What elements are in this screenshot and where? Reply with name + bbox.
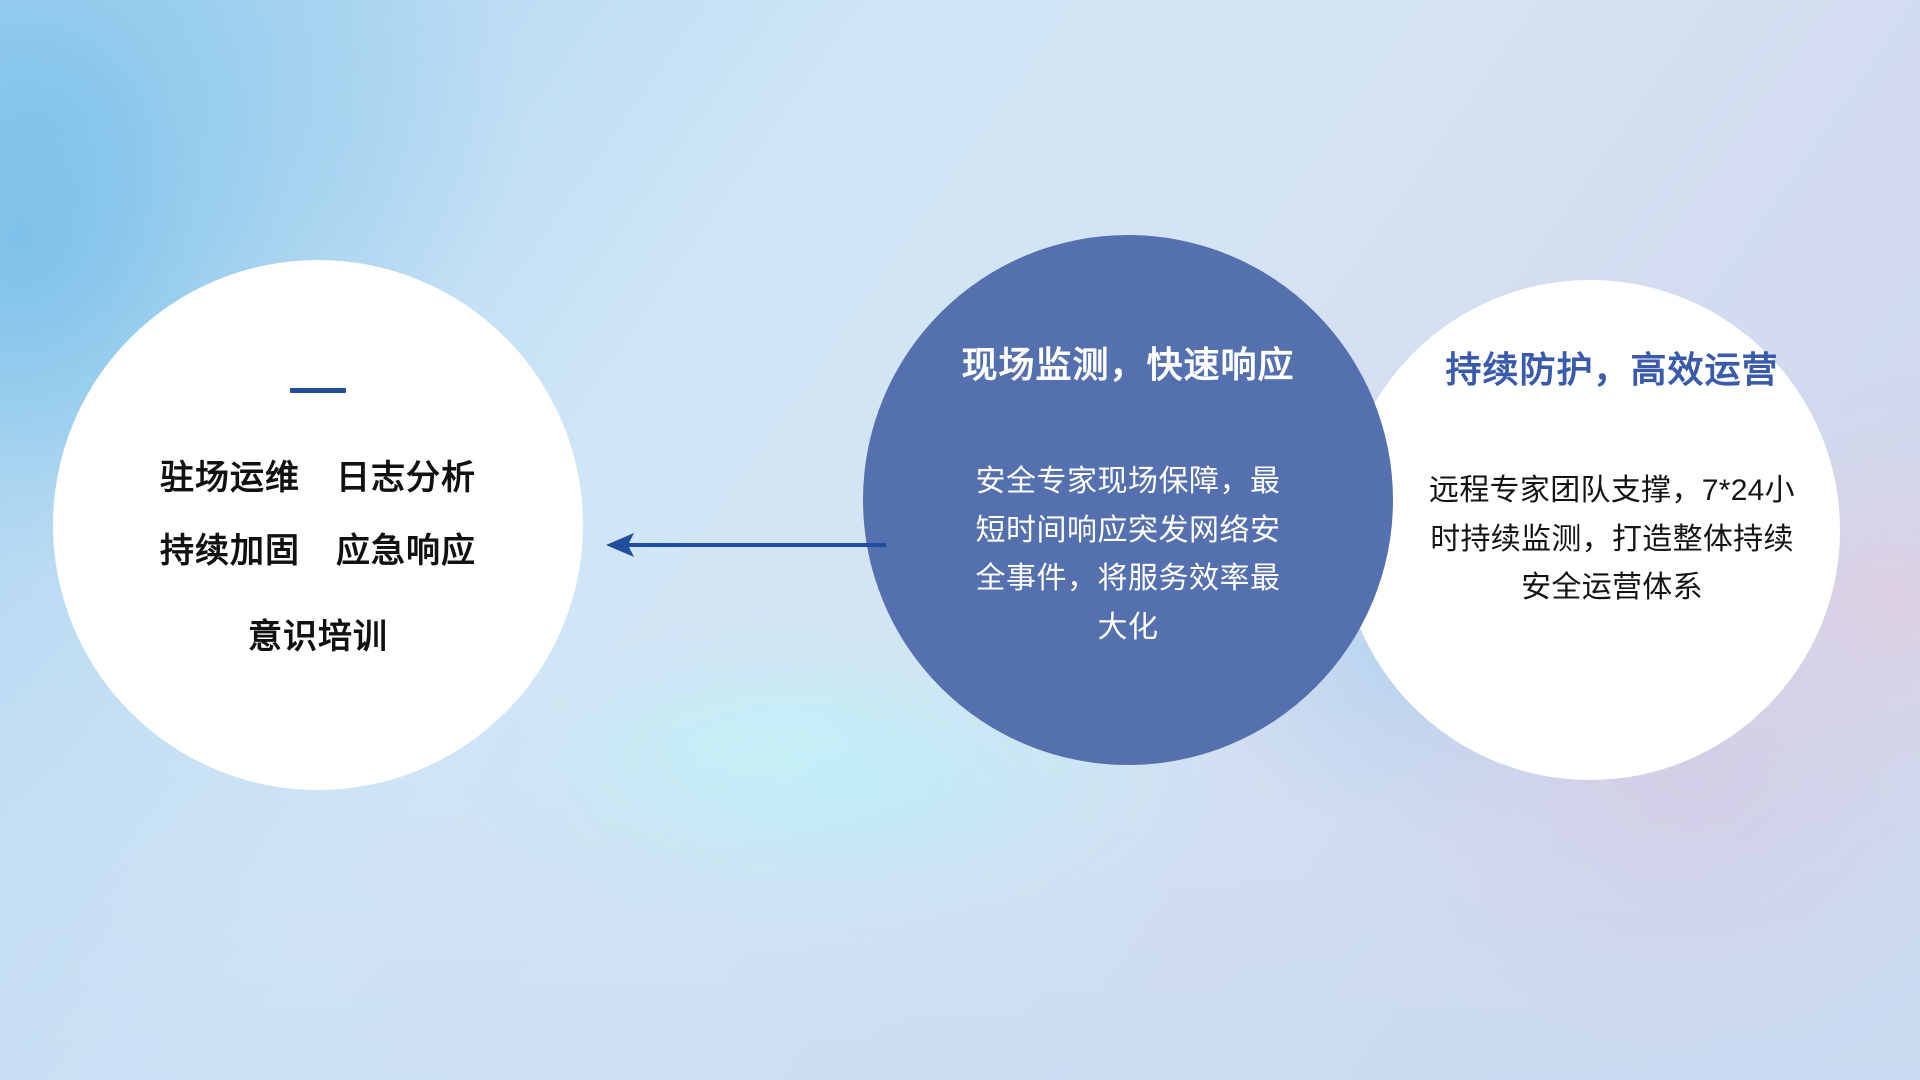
capability-tag[interactable]: 持续加固: [160, 530, 300, 573]
capability-tag[interactable]: 意识培训: [248, 616, 388, 659]
center-circle-content: 现场监测，快速响应 安全专家现场保障，最短时间响应突发网络安全事件，将服务效率最…: [863, 235, 1393, 765]
capability-row: 持续加固 应急响应: [160, 530, 476, 573]
capability-row: 意识培训: [248, 616, 388, 659]
left-circle-content: 驻场运维 日志分析 持续加固 应急响应 意识培训: [53, 260, 583, 790]
center-circle-title: 现场监测，快速响应: [961, 343, 1294, 386]
left-circle-divider: [290, 388, 346, 393]
slide-canvas: 驻场运维 日志分析 持续加固 应急响应 意识培训 现场监测，快速响应 安全专家现…: [0, 0, 1920, 1080]
right-circle-title: 持续防护，高效运营: [1445, 348, 1778, 391]
capability-tag[interactable]: 日志分析: [336, 457, 476, 500]
capability-tag[interactable]: 应急响应: [336, 530, 476, 573]
capability-tag[interactable]: 驻场运维: [160, 457, 300, 500]
center-circle-body: 安全专家现场保障，最短时间响应突发网络安全事件，将服务效率最大化: [963, 458, 1293, 652]
capability-row: 驻场运维 日志分析: [160, 457, 476, 500]
right-circle-content: 持续防护，高效运营 远程专家团队支撑，7*24小时持续监测，打造整体持续安全运营…: [1340, 280, 1840, 780]
right-circle-body: 远程专家团队支撑，7*24小时持续监测，打造整体持续安全运营体系: [1422, 467, 1802, 613]
left-arrow-icon: [590, 518, 890, 572]
